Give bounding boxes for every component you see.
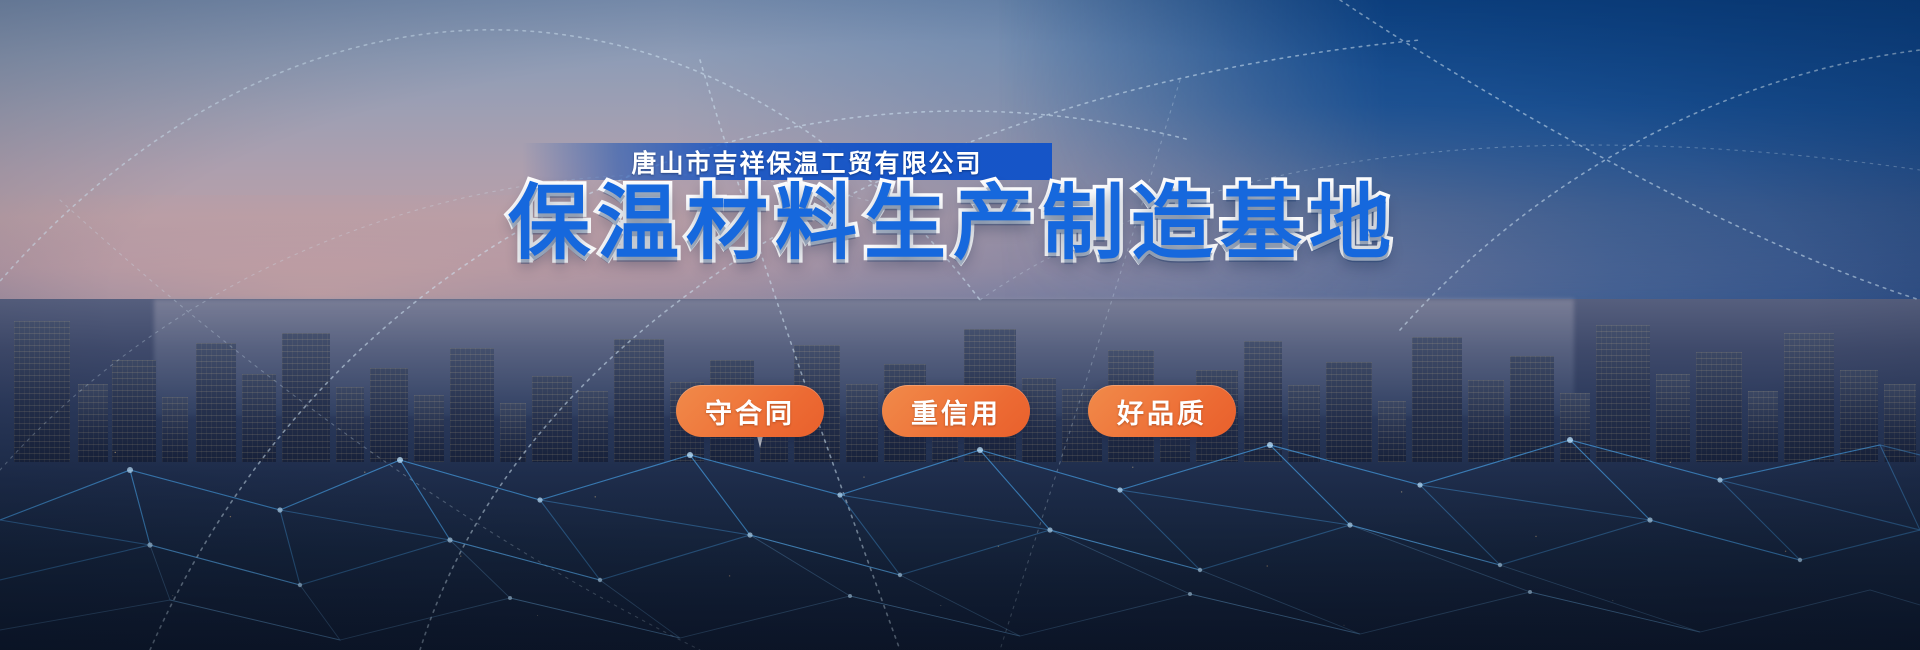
badge-hao-pin-zhi[interactable]: 好品质 [1088, 385, 1236, 437]
page-title: 保温材料生产制造基地 [0, 183, 1920, 265]
badge-zhong-xin-yong[interactable]: 重信用 [882, 385, 1030, 437]
hero-banner: 唐山市吉祥保温工贸有限公司 保温材料生产制造基地 守合同 重信用 好品质 [0, 0, 1920, 650]
badge-shou-he-tong[interactable]: 守合同 [676, 385, 824, 437]
feature-badge-group: 守合同 重信用 好品质 [0, 385, 1920, 437]
company-name-bar: 唐山市吉祥保温工贸有限公司 [522, 143, 1052, 180]
banner-content: 唐山市吉祥保温工贸有限公司 保温材料生产制造基地 守合同 重信用 好品质 [0, 0, 1920, 650]
company-name-text: 唐山市吉祥保温工贸有限公司 [591, 144, 982, 180]
